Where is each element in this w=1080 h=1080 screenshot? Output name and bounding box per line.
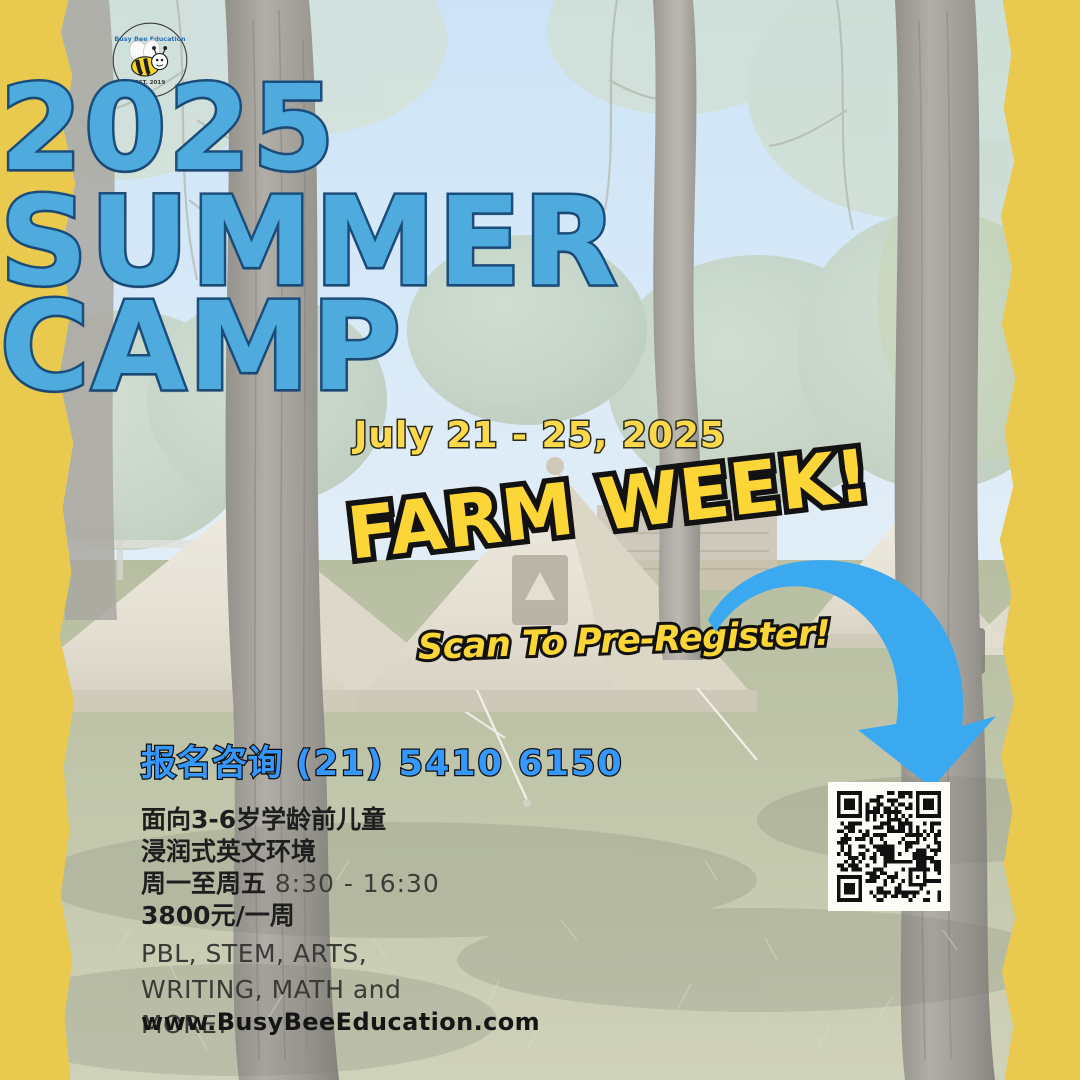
hours-value: 8:30 - 16:30 <box>275 869 440 898</box>
headline-year: 2025 <box>0 72 1080 184</box>
schedule-line: 周一至周五 8:30 - 16:30 <box>141 868 621 900</box>
arrow-svg <box>700 548 1010 788</box>
price-line: 3800元/一周 <box>141 900 621 932</box>
headline-camp: CAMP <box>0 290 1080 406</box>
summer-camp-poster: Busy Bee Education EST. 2019 2025 SUMMER… <box>0 0 1080 1080</box>
camp-info-block: 报名咨询 (21) 5410 6150 面向3-6岁学龄前儿童 浸润式英文环境 … <box>141 735 621 1043</box>
website-url[interactable]: www.BusyBeeEducation.com <box>141 1008 540 1036</box>
age-range-line: 面向3-6岁学龄前儿童 <box>141 804 621 836</box>
qr-canvas <box>837 791 941 902</box>
program-line: WRITING, MATH and <box>141 972 621 1008</box>
phone-label: 报名咨询 <box>141 744 283 784</box>
curved-down-right-arrow-icon <box>700 548 1010 788</box>
camp-date-range: July 21 - 25, 2025 <box>0 415 1080 456</box>
contact-phone-line: 报名咨询 (21) 5410 6150 <box>141 735 621 786</box>
days-label: 周一至周五 <box>141 869 266 898</box>
phone-number: (21) 5410 6150 <box>296 744 624 784</box>
environment-line: 浸润式英文环境 <box>141 836 621 868</box>
program-line: PBL, STEM, ARTS, <box>141 936 621 972</box>
pre-registration-qr-code[interactable] <box>828 782 950 911</box>
